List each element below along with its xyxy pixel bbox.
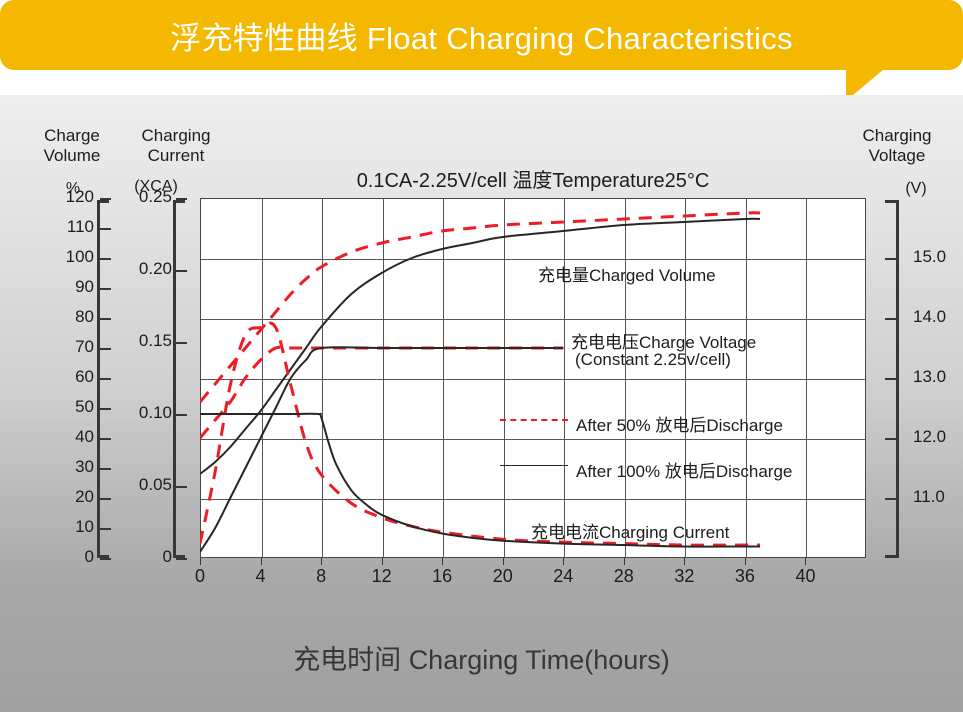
- axis-end-cap: [173, 555, 185, 558]
- tick-label-charge-volume: 0: [44, 547, 94, 567]
- gridline-vertical: [443, 199, 444, 557]
- tick-time: [261, 558, 262, 565]
- tick-charging-current: [176, 486, 187, 488]
- tick-label-charging-current: 0.05: [112, 475, 172, 495]
- tick-time: [382, 558, 383, 565]
- tick-charge-volume: [100, 408, 111, 410]
- tick-label-time: 8: [301, 566, 341, 587]
- tick-charging-voltage: [885, 318, 896, 320]
- axis-end-cap: [885, 555, 897, 558]
- tick-label-charging-voltage: 11.0: [913, 487, 963, 507]
- tick-label-charging-current: 0.15: [112, 331, 172, 351]
- gridline-vertical: [564, 199, 565, 557]
- tick-label-charge-volume: 30: [44, 457, 94, 477]
- gridline-vertical: [746, 199, 747, 557]
- axis-heading-charging-current-line2: Current: [124, 146, 228, 166]
- tick-label-charge-volume: 90: [44, 277, 94, 297]
- tick-label-charge-volume: 80: [44, 307, 94, 327]
- tick-time: [684, 558, 685, 565]
- tick-label-charge-volume: 120: [44, 187, 94, 207]
- tick-charge-volume: [100, 258, 111, 260]
- tick-label-time: 36: [725, 566, 765, 587]
- tick-charging-voltage: [885, 498, 896, 500]
- tick-time: [200, 558, 201, 565]
- tick-charging-voltage: [885, 258, 896, 260]
- gridline-horizontal: [201, 379, 865, 380]
- tick-label-time: 32: [664, 566, 704, 587]
- axis-heading-charging-current: Charging Current: [124, 126, 228, 166]
- tick-time: [805, 558, 806, 565]
- tick-label-time: 4: [241, 566, 281, 587]
- axis-end-cap: [97, 555, 109, 558]
- tick-charge-volume: [100, 468, 111, 470]
- tick-time: [624, 558, 625, 565]
- plot-title: 0.1CA-2.25V/cell 温度Temperature25°C: [200, 164, 866, 193]
- legend-label-after-50: After 50% 放电后Discharge: [576, 411, 783, 436]
- legend-swatch-after-100: [500, 465, 568, 466]
- gridline-vertical: [383, 199, 384, 557]
- tick-label-time: 40: [785, 566, 825, 587]
- axis-unit-charging-voltage: (V): [886, 180, 946, 198]
- annotation-charging-current: 充电电流Charging Current: [531, 518, 729, 543]
- annotation-charge-voltage-sub: (Constant 2.25v/cell): [575, 350, 731, 370]
- bottom-caption: 充电时间 Charging Time(hours): [0, 638, 963, 677]
- tick-charging-current: [176, 342, 187, 344]
- legend-label-after-100: After 100% 放电后Discharge: [576, 457, 792, 482]
- axis-heading-charge-volume-line2: Volume: [22, 146, 122, 166]
- gridline-vertical: [322, 199, 323, 557]
- axis-heading-charging-current-line1: Charging: [124, 126, 228, 146]
- tick-charging-current: [176, 270, 187, 272]
- tick-charge-volume: [100, 288, 111, 290]
- tick-label-charge-volume: 20: [44, 487, 94, 507]
- plot-area: [200, 198, 866, 558]
- axis-end-cap: [885, 200, 897, 203]
- gridline-horizontal: [201, 439, 865, 440]
- gridline-vertical: [685, 199, 686, 557]
- axis-heading-charging-voltage: Charging Voltage: [845, 126, 949, 166]
- axis-line-charging-voltage: [896, 200, 899, 558]
- tick-label-charging-current: 0: [112, 547, 172, 567]
- tick-charge-volume: [100, 348, 111, 350]
- tick-charge-volume: [100, 318, 111, 320]
- tick-charging-current: [176, 414, 187, 416]
- tick-time: [321, 558, 322, 565]
- gridline-horizontal: [201, 499, 865, 500]
- tick-charge-volume: [100, 228, 111, 230]
- tick-label-time: 12: [362, 566, 402, 587]
- tick-label-charge-volume: 10: [44, 517, 94, 537]
- tick-label-charge-volume: 60: [44, 367, 94, 387]
- axis-heading-charge-volume: Charge Volume: [22, 126, 122, 166]
- tick-charge-volume: [100, 438, 111, 440]
- tick-label-charging-voltage: 12.0: [913, 427, 963, 447]
- tick-charging-voltage: [885, 378, 896, 380]
- tick-charging-voltage: [885, 438, 896, 440]
- tick-label-time: 16: [422, 566, 462, 587]
- gridline-vertical: [262, 199, 263, 557]
- tick-charge-volume: [100, 498, 111, 500]
- tick-charge-volume: [100, 558, 111, 560]
- tick-label-charge-volume: 40: [44, 427, 94, 447]
- tick-charging-current: [176, 558, 187, 560]
- tick-label-charge-volume: 100: [44, 247, 94, 267]
- gridline-vertical: [504, 199, 505, 557]
- tick-time: [745, 558, 746, 565]
- tick-charge-volume: [100, 378, 111, 380]
- axis-heading-charge-volume-line1: Charge: [22, 126, 122, 146]
- tick-label-time: 28: [604, 566, 644, 587]
- tick-label-charging-voltage: 13.0: [913, 367, 963, 387]
- axis-heading-charging-voltage-line1: Charging: [845, 126, 949, 146]
- tick-time: [563, 558, 564, 565]
- plot-gridlines: [201, 199, 865, 557]
- axis-line-charging-current: [173, 200, 176, 558]
- tick-charge-volume: [100, 528, 111, 530]
- gridline-horizontal: [201, 259, 865, 260]
- page-title: 浮充特性曲线 Float Charging Characteristics: [0, 0, 963, 70]
- tick-label-time: 0: [180, 566, 220, 587]
- tick-label-charging-current: 0.25: [112, 187, 172, 207]
- tick-label-time: 24: [543, 566, 583, 587]
- tick-label-charging-voltage: 14.0: [913, 307, 963, 327]
- gridline-vertical: [625, 199, 626, 557]
- axis-end-cap: [97, 200, 109, 203]
- axis-end-cap: [173, 200, 185, 203]
- gridline-vertical: [806, 199, 807, 557]
- tick-label-time: 20: [483, 566, 523, 587]
- tick-label-charging-current: 0.20: [112, 259, 172, 279]
- gridline-horizontal: [201, 319, 865, 320]
- tick-label-charge-volume: 110: [44, 217, 94, 237]
- legend-swatch-after-50: [500, 419, 568, 421]
- axis-heading-charging-voltage-line2: Voltage: [845, 146, 949, 166]
- tick-time: [503, 558, 504, 565]
- tick-label-charge-volume: 70: [44, 337, 94, 357]
- tick-label-charging-current: 0.10: [112, 403, 172, 423]
- tick-time: [442, 558, 443, 565]
- tick-label-charging-voltage: 15.0: [913, 247, 963, 267]
- tick-label-charge-volume: 50: [44, 397, 94, 417]
- annotation-charged-volume: 充电量Charged Volume: [538, 261, 716, 286]
